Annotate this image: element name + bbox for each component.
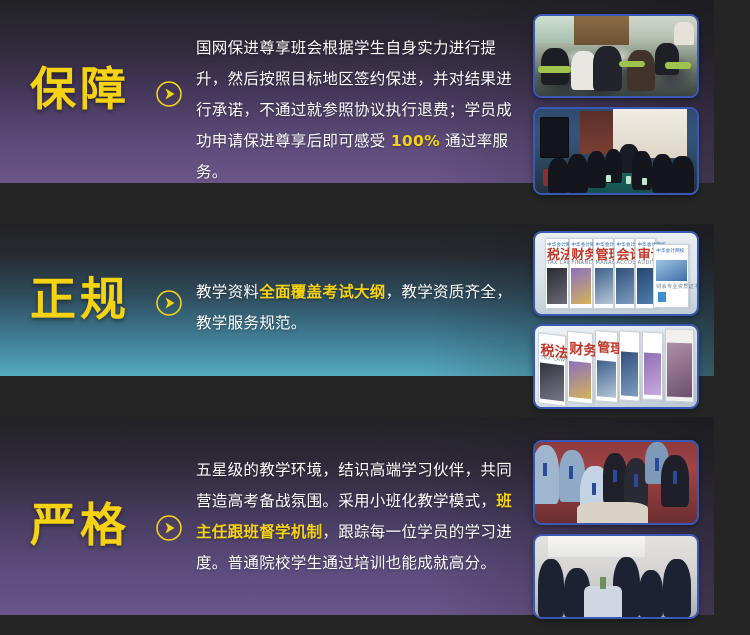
- circle-arrow-right-icon[interactable]: [155, 289, 183, 317]
- section-guarantee-paragraph: 国网保进尊享班会根据学生自身实力进行提升，然后按照目标地区签约保进，并对结果进行…: [196, 33, 526, 188]
- circle-arrow-right-icon[interactable]: [155, 514, 183, 542]
- seated-discussion-photo: [533, 534, 699, 619]
- group-study-photo: [533, 440, 699, 525]
- circle-arrow-right-icon[interactable]: [155, 80, 183, 108]
- classroom-photo: [533, 14, 699, 98]
- paragraph-highlight: 全面覆盖考试大纲: [259, 283, 385, 301]
- paragraph-highlight: 100%: [391, 132, 440, 150]
- materials-banners-angled-photo: 税法 TAX LAW 财务 管理: [533, 324, 699, 409]
- section-formal-paragraph: 教学资料全面覆盖考试大纲，教学资质齐全，教学服务规范。: [196, 277, 526, 339]
- section-guarantee: 保障 国网保进尊享班会根据学生自身实力进行提升，然后按照目标地区签约保进，并对结…: [0, 0, 714, 183]
- section-strict: 严格 五星级的教学环境，结识高端学习伙伴，共同营造高考备战氛围。采用小班化教学模…: [0, 417, 714, 615]
- section-formal-title: 正规: [30, 276, 130, 322]
- section-strict-title: 严格: [30, 502, 130, 548]
- paragraph-part: 五星级的教学环境，结识高端学习伙伴，共同营造高考备战氛围。采用小班化教学模式，: [196, 461, 512, 510]
- meeting-room-photo: [533, 107, 699, 195]
- section-strict-paragraph: 五星级的教学环境，结识高端学习伙伴，共同营造高考备战氛围。采用小班化教学模式，班…: [196, 455, 526, 579]
- materials-banners-photo: 中华会计网校 税法 TAX LAW 中华会计网校 财务 FINANCE 中华会计…: [533, 231, 699, 316]
- banner-sub: 财会专业资质证书: [656, 283, 699, 290]
- section-guarantee-title: 保障: [30, 66, 130, 112]
- banner-title: 财务: [570, 342, 598, 359]
- banner-brand: 中华会计网校: [656, 248, 684, 254]
- section-formal: 正规 教学资料全面覆盖考试大纲，教学资质齐全，教学服务规范。 中华会计网校 税法…: [0, 224, 714, 376]
- paragraph-part: 教学资料: [196, 283, 259, 301]
- promo-page: 保障 国网保进尊享班会根据学生自身实力进行提升，然后按照目标地区签约保进，并对结…: [0, 0, 750, 635]
